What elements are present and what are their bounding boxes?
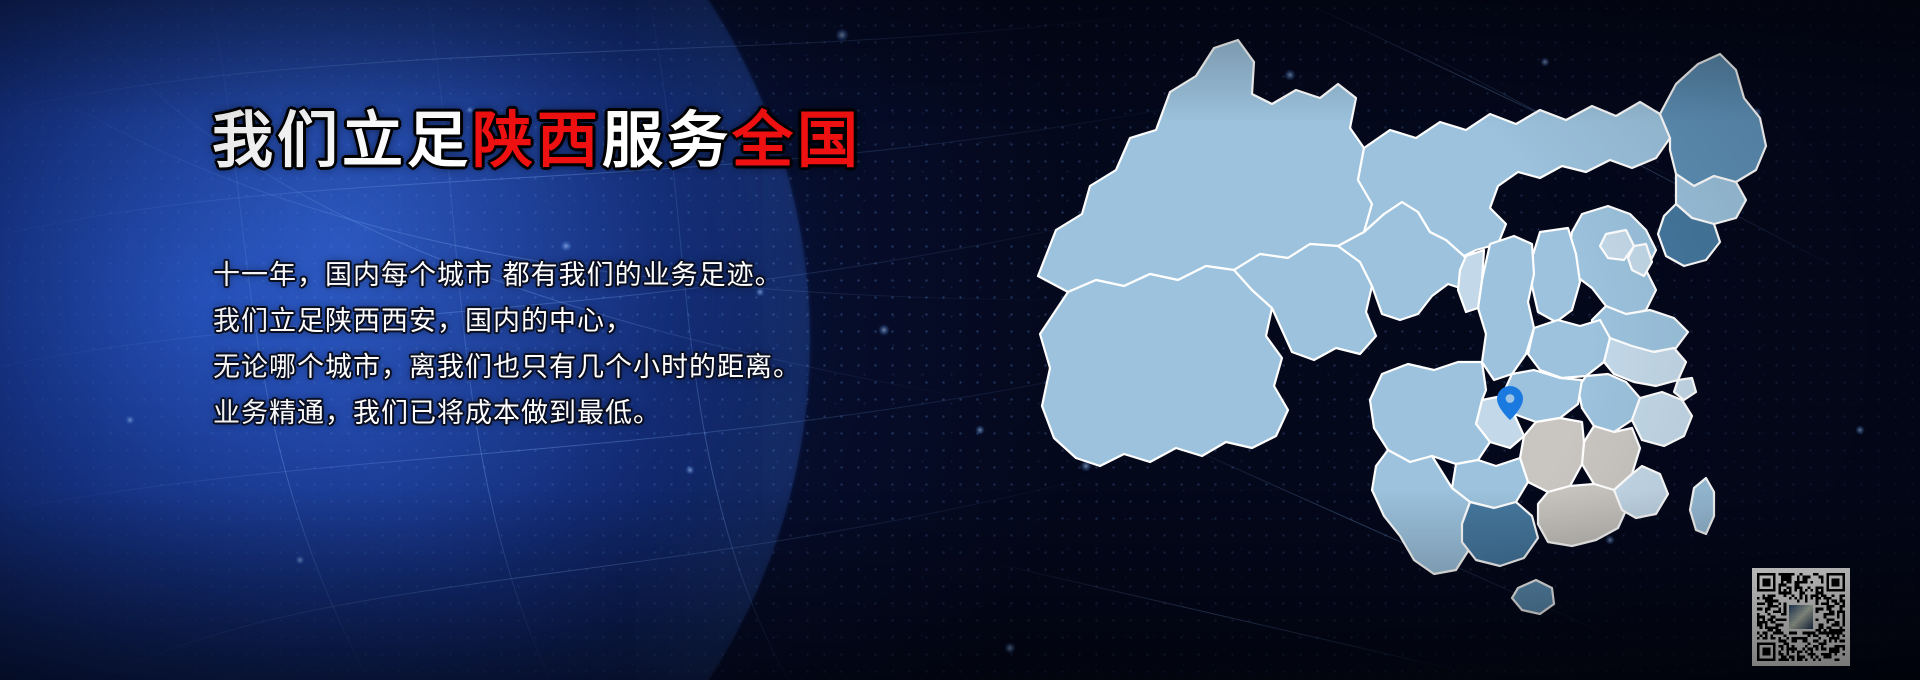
province-xizang [1040,266,1288,466]
body-line-2: 我们立足陕西西安，国内的中心， [213,299,801,345]
wechat-qr-code[interactable] [1752,568,1850,666]
province-hunan [1520,418,1584,492]
headline-segment-2: 陕西 [472,105,602,176]
china-map-svg [1020,18,1840,658]
province-shaanxi [1478,236,1534,380]
province-zhejiang [1632,392,1692,446]
china-map [1020,18,1840,658]
province-shanxi [1532,228,1580,322]
body-line-3: 无论哪个城市，离我们也只有几个小时的距离。 [213,345,801,391]
province-taiwan [1690,478,1714,534]
promo-banner: 我们立足陕西服务全国 十一年，国内每个城市 都有我们的业务足迹。 我们立足陕西西… [0,0,1920,680]
province-henan [1528,320,1610,378]
headline-segment-1: 我们立足 [212,105,472,176]
body-line-4: 业务精通，我们已将成本做到最低。 [213,391,801,437]
body-line-1: 十一年，国内每个城市 都有我们的业务足迹。 [213,253,801,299]
headline-segment-4: 全国 [732,105,862,176]
province-hainan [1512,580,1554,614]
province-guangxi [1462,502,1538,566]
body-copy: 十一年，国内每个城市 都有我们的业务足迹。 我们立足陕西西安，国内的中心， 无论… [213,253,801,437]
qr-code-canvas [1757,573,1845,661]
province-anhui [1578,374,1640,432]
location-pin-icon[interactable] [1497,386,1523,420]
province-sichuan [1370,362,1490,464]
province-heilongjiang [1660,54,1766,186]
page-title: 我们立足陕西服务全国 [212,110,862,171]
text-content-block: 我们立足陕西服务全国 十一年，国内每个城市 都有我们的业务足迹。 我们立足陕西西… [0,0,860,680]
headline-segment-3: 服务 [602,105,732,176]
province-shanghai [1674,378,1696,400]
